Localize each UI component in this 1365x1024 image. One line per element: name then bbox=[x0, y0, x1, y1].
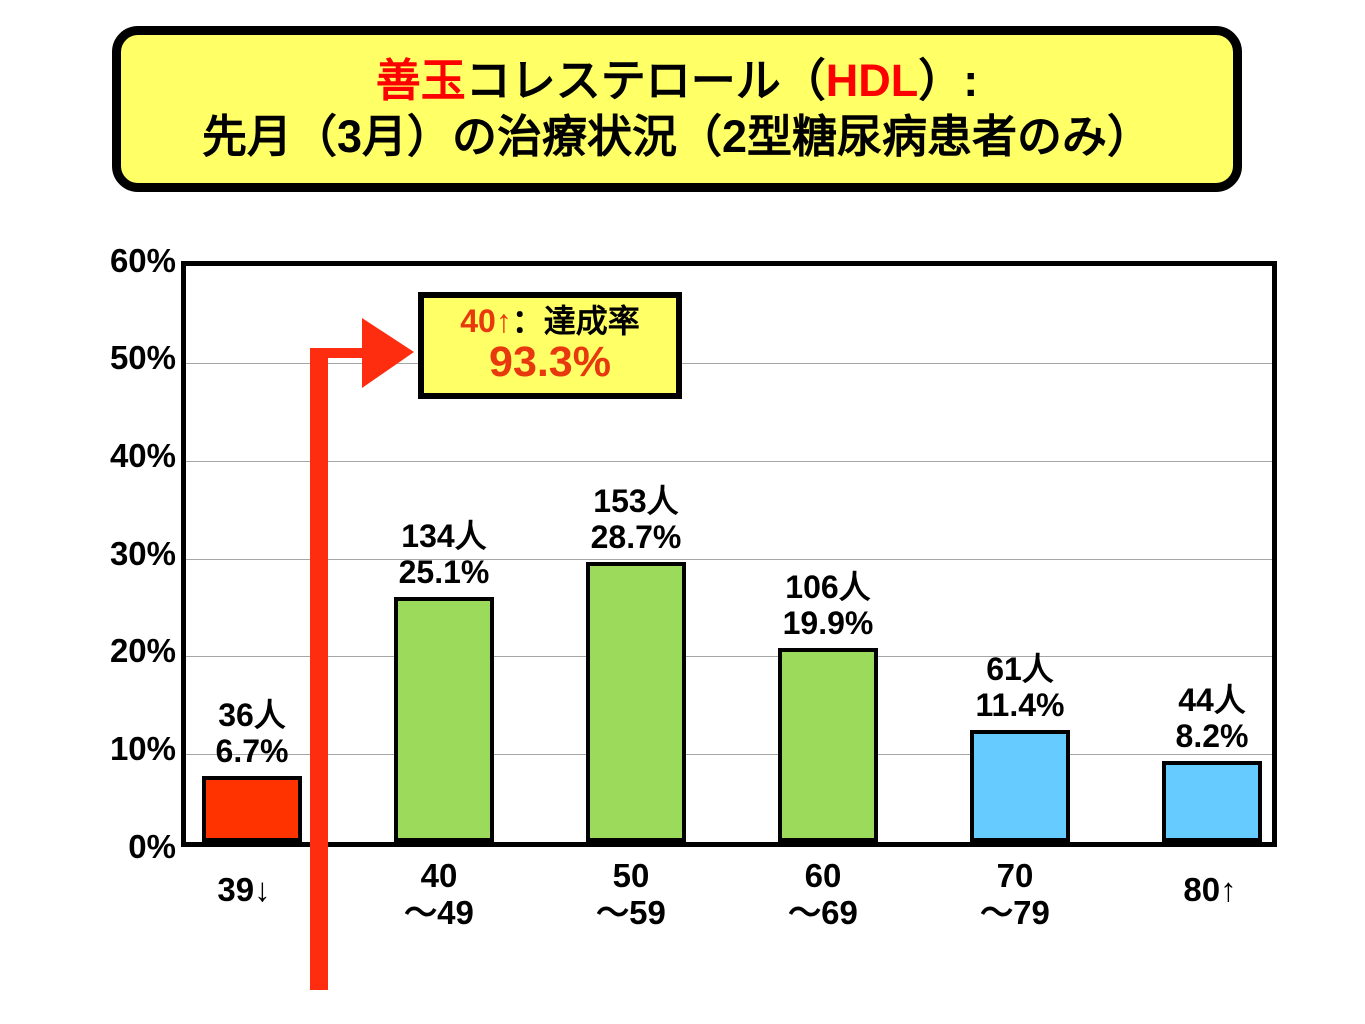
bar-label-60-69: 106人 19.9% bbox=[783, 570, 874, 642]
bar-pct-50-59: 28.7% bbox=[591, 520, 682, 556]
x-axis-label-50-59: 50 〜59 bbox=[571, 858, 691, 932]
gridline-40 bbox=[186, 461, 1272, 462]
bar-label-39-down: 36人 6.7% bbox=[216, 698, 289, 770]
bar-count-70-79: 61人 bbox=[976, 652, 1065, 688]
gridline-30 bbox=[186, 559, 1272, 560]
x-label-bottom-4: 〜79 bbox=[955, 895, 1075, 932]
y-axis-label-40: 40% bbox=[56, 437, 176, 475]
y-axis-label-60: 60% bbox=[56, 242, 176, 280]
bar-chart: 60% 50% 40% 30% 20% 10% 0% 36人 6.7% 134人… bbox=[0, 0, 1365, 1024]
bar-count-80-up: 44人 bbox=[1176, 683, 1249, 719]
bar-pct-80-up: 8.2% bbox=[1176, 719, 1249, 755]
gridline-50 bbox=[186, 363, 1272, 364]
y-axis-label-30: 30% bbox=[56, 535, 176, 573]
bar-pct-39-down: 6.7% bbox=[216, 734, 289, 770]
gridline-10 bbox=[186, 754, 1272, 755]
y-axis-label-50: 50% bbox=[56, 339, 176, 377]
bar-group-80-up: 44人 8.2% bbox=[1162, 266, 1262, 842]
x-label-top-1: 40 bbox=[379, 858, 499, 895]
x-axis-label-70-79: 70 〜79 bbox=[955, 858, 1075, 932]
bar-group-70-79: 61人 11.4% bbox=[970, 266, 1070, 842]
bar-50-59[interactable] bbox=[586, 562, 686, 842]
x-label-top-0: 39↓ bbox=[184, 872, 304, 909]
bar-40-49[interactable] bbox=[394, 597, 494, 842]
x-label-bottom-2: 〜59 bbox=[571, 895, 691, 932]
callout-label: ：達成率 bbox=[512, 303, 640, 339]
bar-60-69[interactable] bbox=[778, 648, 878, 842]
bar-label-50-59: 153人 28.7% bbox=[591, 484, 682, 556]
callout-threshold: 40↑ bbox=[460, 303, 512, 339]
bar-group-39-down: 36人 6.7% bbox=[202, 266, 302, 842]
bar-70-79[interactable] bbox=[970, 730, 1070, 842]
bar-label-70-79: 61人 11.4% bbox=[976, 652, 1065, 724]
x-label-bottom-3: 〜69 bbox=[763, 895, 883, 932]
bar-label-40-49: 134人 25.1% bbox=[399, 519, 490, 591]
x-axis-label-40-49: 40 〜49 bbox=[379, 858, 499, 932]
x-axis-label-60-69: 60 〜69 bbox=[763, 858, 883, 932]
x-label-top-4: 70 bbox=[955, 858, 1075, 895]
x-label-top-3: 60 bbox=[763, 858, 883, 895]
x-label-bottom-1: 〜49 bbox=[379, 895, 499, 932]
bar-label-80-up: 44人 8.2% bbox=[1176, 683, 1249, 755]
y-axis-label-10: 10% bbox=[56, 730, 176, 768]
bar-80-up[interactable] bbox=[1162, 761, 1262, 842]
gridline-20 bbox=[186, 656, 1272, 657]
bar-group-60-69: 106人 19.9% bbox=[778, 266, 878, 842]
bar-count-50-59: 153人 bbox=[591, 484, 682, 520]
x-axis-label-39-down: 39↓ bbox=[184, 872, 304, 909]
achievement-callout-box: 40↑：達成率 93.3% bbox=[418, 292, 682, 399]
bar-count-39-down: 36人 bbox=[216, 698, 289, 734]
plot-area: 36人 6.7% 134人 25.1% 153人 28.7% 106人 bbox=[181, 261, 1277, 847]
bar-pct-70-79: 11.4% bbox=[976, 688, 1065, 724]
bar-count-60-69: 106人 bbox=[783, 570, 874, 606]
bar-count-40-49: 134人 bbox=[399, 519, 490, 555]
callout-heading: 40↑：達成率 bbox=[460, 304, 640, 339]
bar-pct-40-49: 25.1% bbox=[399, 555, 490, 591]
bar-39-down[interactable] bbox=[202, 776, 302, 842]
x-axis-label-80-up: 80↑ bbox=[1150, 872, 1270, 909]
x-label-top-2: 50 bbox=[571, 858, 691, 895]
y-axis-label-0: 0% bbox=[56, 828, 176, 866]
y-axis-label-20: 20% bbox=[56, 632, 176, 670]
bar-pct-60-69: 19.9% bbox=[783, 606, 874, 642]
x-label-top-5: 80↑ bbox=[1150, 872, 1270, 909]
callout-rate-value: 93.3% bbox=[489, 339, 611, 386]
